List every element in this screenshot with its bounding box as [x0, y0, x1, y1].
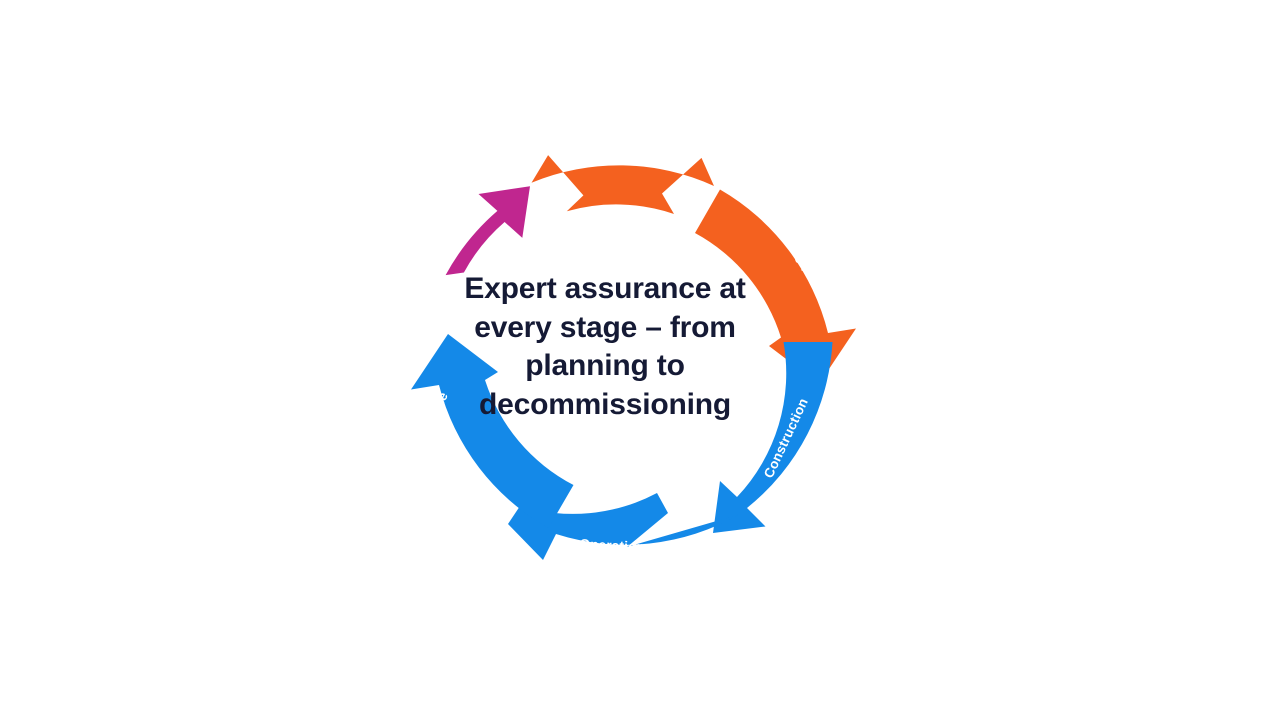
segment-upgrade-label: Upgrade — [413, 389, 451, 446]
center-text-line-4: decommissioning — [479, 386, 731, 425]
segment-operation-label: Operation — [579, 536, 645, 554]
segment-planning-label: Planning — [595, 135, 655, 155]
slide-canvas: Decommissioning Planning Design Construc… — [0, 0, 1280, 720]
center-text-line-1: Expert assurance at — [464, 270, 745, 309]
center-text-block: Expert assurance at every stage – from p… — [455, 262, 755, 432]
center-text-line-3: planning to — [525, 347, 684, 386]
segment-planning-arrow — [532, 155, 715, 214]
center-text-line-2: every stage – from — [474, 309, 736, 348]
segment-planning[interactable]: Planning — [532, 135, 715, 214]
